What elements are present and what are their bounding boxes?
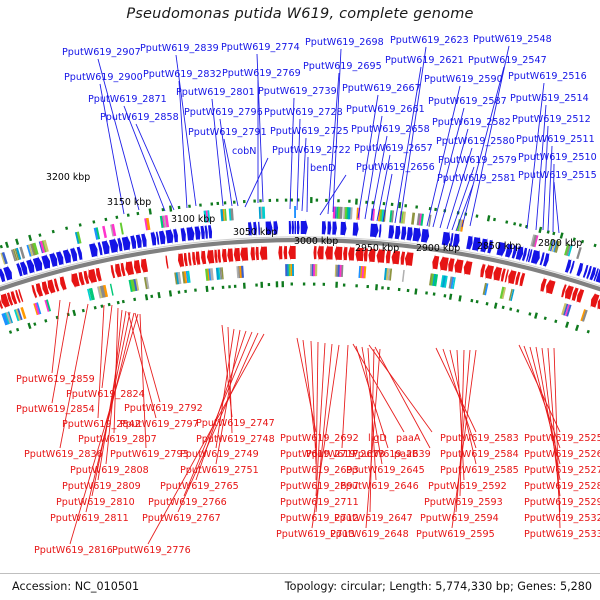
reverse-gene-label[interactable]: PputW619_2765 [160,482,239,492]
forward-gene-label[interactable]: PputW619_2516 [508,72,587,82]
forward-gene-label[interactable]: PputW619_2510 [518,153,597,163]
reverse-gene-label[interactable]: PputW619_2810 [56,498,135,508]
ruler-tick: 2950 kbp [355,243,399,254]
forward-gene-label[interactable]: PputW619_2657 [354,144,433,154]
forward-gene-label[interactable]: cobN [232,147,256,157]
topology-text: Topology: circular; Length: 5,774,330 bp… [285,580,592,593]
reverse-gene-label[interactable]: PputW619_2526 [524,450,600,460]
reverse-gene-label[interactable]: PputW619_2585 [440,466,519,476]
reverse-gene-label[interactable]: PputW619_2594 [420,514,499,524]
forward-gene-label[interactable]: PputW619_2839 [140,44,219,54]
reverse-gene-label[interactable]: PputW619_2854 [16,405,95,415]
forward-gene-label[interactable]: PputW619_2858 [100,113,179,123]
forward-gene-label[interactable]: PputW619_2621 [385,56,464,66]
accession-text: Accession: NC_010501 [12,580,139,593]
accession-label: Accession: [12,580,71,593]
forward-gene-label[interactable]: PputW619_2698 [305,38,384,48]
forward-gene-label[interactable]: PputW619_2728 [264,108,343,118]
reverse-gene-label[interactable]: PputW619_2593 [424,498,503,508]
forward-gene-label[interactable]: PputW619_2587 [428,97,507,107]
forward-gene-label[interactable]: PputW619_2656 [356,163,435,173]
reverse-gene-label[interactable]: PputW619_2529 [524,498,600,508]
forward-gene-label[interactable]: PputW619_2548 [473,35,552,45]
reverse-gene-label[interactable]: PputW619_2859 [16,375,95,385]
reverse-gene-label[interactable]: PputW619_2747 [196,419,275,429]
reverse-gene-label[interactable]: PputW619_2528 [524,482,600,492]
forward-gene-label[interactable]: PputW619_2900 [64,73,143,83]
forward-gene-label[interactable]: benD [310,164,335,174]
forward-gene-label[interactable]: PputW619_2515 [518,171,597,181]
forward-gene-label[interactable]: PputW619_2667 [342,84,421,94]
reverse-gene-label[interactable]: PputW619_2751 [180,466,259,476]
reverse-gene-label[interactable]: PputW619_2692 [280,434,359,444]
reverse-gene-label[interactable]: PputW619_2533 [524,530,600,540]
reverse-gene-label[interactable]: PputW619_2532 [524,514,600,524]
reverse-gene-label[interactable]: paaA [396,434,420,444]
reverse-gene-label[interactable]: PputW619_2766 [148,498,227,508]
ruler-tick: 3000 kbp [294,236,338,247]
reverse-gene-label[interactable]: PputW619_2776 [112,546,191,556]
reverse-gene-label[interactable]: PputW619_2711 [280,498,359,508]
ruler-tick: 3200 kbp [46,172,90,183]
forward-gene-label[interactable]: PputW619_2722 [272,146,351,156]
reverse-gene-label[interactable]: PputW619_2645 [346,466,425,476]
forward-gene-label[interactable]: PputW619_2774 [221,43,300,53]
forward-gene-label[interactable]: PputW619_2769 [222,69,301,79]
reverse-gene-label[interactable]: PputW619_2583 [440,434,519,444]
reverse-gene-label[interactable]: PputW619_2824 [66,390,145,400]
reverse-gene-label[interactable]: PputW619_2793 [110,450,189,460]
reverse-gene-label[interactable]: PputW619_2836 [24,450,103,460]
forward-gene-label[interactable]: PputW619_2623 [390,36,469,46]
forward-gene-label[interactable]: PputW619_2695 [303,62,382,72]
forward-gene-label[interactable]: PputW619_2801 [176,88,255,98]
reverse-gene-label[interactable]: PputW619_2792 [124,404,203,414]
forward-gene-label[interactable]: PputW619_2871 [88,95,167,105]
reverse-gene-label[interactable]: PputW619_2646 [340,482,419,492]
forward-gene-label[interactable]: PputW619_2658 [351,125,430,135]
reverse-gene-label[interactable]: PputW619_2749 [180,450,259,460]
forward-gene-label[interactable]: PputW619_2791 [188,128,267,138]
reverse-gene-label[interactable]: ligD [368,434,387,444]
ruler-tick: 2850 kbp [477,241,521,252]
forward-gene-label[interactable]: PputW619_2512 [512,115,591,125]
reverse-gene-label[interactable]: PputW619_2648 [330,530,409,540]
ruler-tick: 3150 kbp [107,197,151,208]
ruler-tick: 2800 kbp [538,238,582,249]
reverse-gene-label[interactable]: PputW619_2811 [50,514,129,524]
reverse-gene-label[interactable]: PputW619_2748 [196,435,275,445]
forward-gene-label[interactable]: PputW619_2579 [438,156,517,166]
forward-gene-label[interactable]: PputW619_2796 [184,108,263,118]
status-bar: Accession: NC_010501 Topology: circular;… [0,573,600,600]
reverse-gene-label[interactable]: PputW619_2525 [524,434,600,444]
forward-gene-label[interactable]: PputW619_2514 [510,94,589,104]
reverse-gene-label[interactable]: PputW619_2639 [352,450,431,460]
genome-viewer: Pseudomonas putida W619, complete genome… [0,0,600,600]
reverse-gene-label[interactable]: PputW619_2584 [440,450,519,460]
forward-gene-label[interactable]: PputW619_2907 [62,48,141,58]
forward-gene-label[interactable]: PputW619_2725 [270,127,349,137]
forward-gene-label[interactable]: PputW619_2547 [468,56,547,66]
forward-gene-label[interactable]: PputW619_2582 [432,118,511,128]
reverse-gene-label[interactable]: PputW619_2808 [70,466,149,476]
forward-gene-label[interactable]: PputW619_2590 [424,75,503,85]
accession-value: NC_010501 [75,580,139,593]
reverse-gene-label[interactable]: PputW619_2807 [78,435,157,445]
reverse-gene-label[interactable]: PputW619_2797 [120,420,199,430]
ruler-tick: 2900 kbp [416,243,460,254]
forward-gene-label[interactable]: PputW619_2580 [436,137,515,147]
reverse-gene-label[interactable]: PputW619_2767 [142,514,221,524]
ruler-tick: 3100 kbp [171,214,215,225]
forward-gene-label[interactable]: PputW619_2832 [143,70,222,80]
reverse-gene-label[interactable]: PputW619_2816 [34,546,113,556]
ruler-tick: 3050 kbp [233,227,277,238]
reverse-gene-label[interactable]: PputW619_2595 [416,530,495,540]
forward-gene-label[interactable]: PputW619_2739 [258,87,337,97]
forward-gene-label[interactable]: PputW619_2511 [516,135,595,145]
reverse-gene-label[interactable]: PputW619_2647 [334,514,413,524]
reverse-gene-label[interactable]: PputW619_2809 [62,482,141,492]
forward-gene-label[interactable]: PputW619_2661 [346,105,425,115]
forward-gene-label[interactable]: PputW619_2581 [437,174,516,184]
reverse-gene-label[interactable]: PputW619_2592 [428,482,507,492]
reverse-gene-label[interactable]: PputW619_2527 [524,466,600,476]
